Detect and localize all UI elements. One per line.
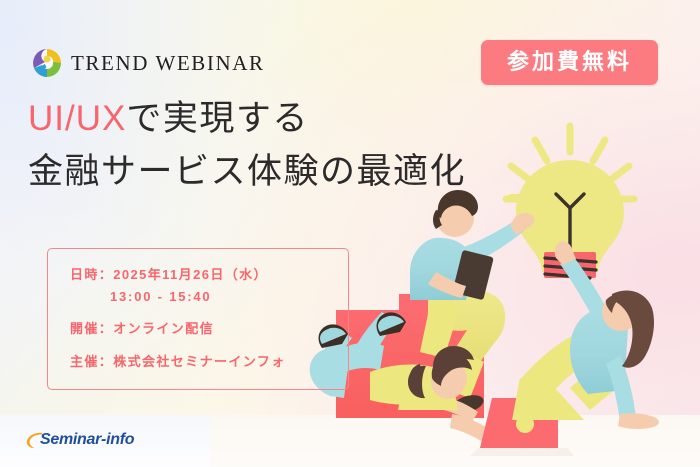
detail-time: 13:00 - 15:40 (62, 288, 334, 306)
brand-label: TREND WEBINAR (71, 53, 265, 74)
seminar-info-logo: Seminar-info (26, 430, 134, 450)
brand-header: TREND WEBINAR (32, 48, 265, 78)
page-title: UI/UXで実現する 金融サービス体験の最適化 (28, 92, 528, 198)
title-line-1: UI/UXで実現する (28, 92, 528, 145)
person-sitting-arm-raised (512, 241, 659, 429)
detail-date: 日時：2025年11月26日（水） (62, 266, 334, 284)
title-accent-uiux: UI/UX (28, 99, 126, 138)
event-details-box: 日時：2025年11月26日（水） 13:00 - 15:40 開催：オンライン… (47, 248, 349, 390)
seminar-info-label: Seminar-info (40, 432, 134, 448)
person-sitting-tablet (403, 190, 535, 416)
globe-people-logo-icon (32, 48, 62, 78)
red-block (336, 294, 484, 418)
title-line-1-rest: で実現する (126, 99, 309, 138)
free-entry-badge: 参加費無料 (481, 40, 658, 85)
detail-venue: 開催：オンライン配信 (62, 320, 334, 338)
title-line-2: 金融サービス体験の最適化 (28, 145, 528, 198)
webinar-banner: TREND WEBINAR 参加費無料 UI/UXで実現する 金融サービス体験の… (0, 0, 700, 467)
detail-organizer: 主催：株式会社セミナーインフォ (62, 353, 334, 371)
